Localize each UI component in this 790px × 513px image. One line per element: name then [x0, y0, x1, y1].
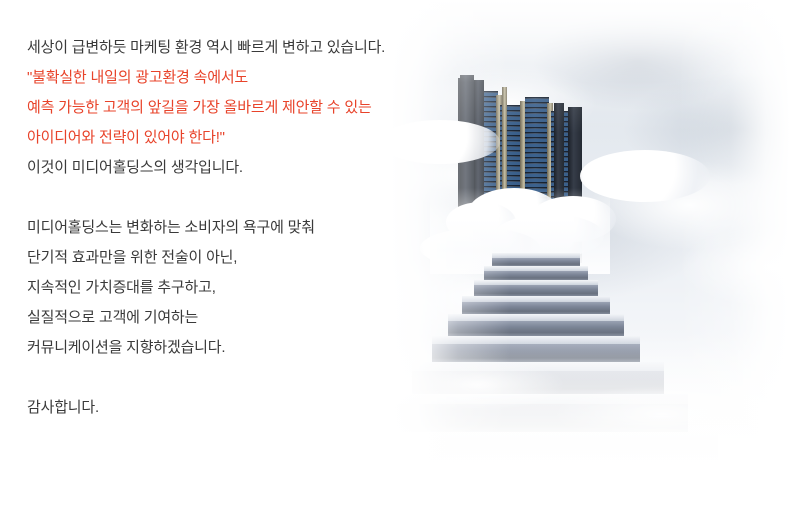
greeting-text: 세상이 급변하듯 마케팅 환경 역시 빠르게 변하고 있습니다. "불확실한 내… [27, 33, 457, 423]
greeting-line-4: 아이디어와 전략이 있어야 한다!" [27, 123, 457, 153]
greeting-line-11: 감사합니다. [27, 393, 457, 423]
greeting-line-3: 예측 가능한 고객의 앞길을 가장 올바르게 제안할 수 있는 [27, 93, 457, 123]
greeting-line-8: 지속적인 가치증대를 추구하고, [27, 273, 457, 303]
greeting-line-1: 세상이 급변하듯 마케팅 환경 역시 빠르게 변하고 있습니다. [27, 33, 457, 63]
greeting-line-2: "불확실한 내일의 광고환경 속에서도 [27, 63, 457, 93]
greeting-line-6: 미디어홀딩스는 변화하는 소비자의 욕구에 맞춰 [27, 213, 457, 243]
greeting-line-9: 실질적으로 고객에 기여하는 [27, 303, 457, 333]
greeting-page: 세상이 급변하듯 마케팅 환경 역시 빠르게 변하고 있습니다. "불확실한 내… [0, 0, 790, 513]
greeting-spacer-2 [27, 363, 457, 393]
greeting-line-5: 이것이 미디어홀딩스의 생각입니다. [27, 153, 457, 183]
greeting-spacer-1 [27, 183, 457, 213]
greeting-line-7: 단기적 효과만을 위한 전술이 아닌, [27, 243, 457, 273]
greeting-line-10: 커뮤니케이션을 지향하겠습니다. [27, 333, 457, 363]
